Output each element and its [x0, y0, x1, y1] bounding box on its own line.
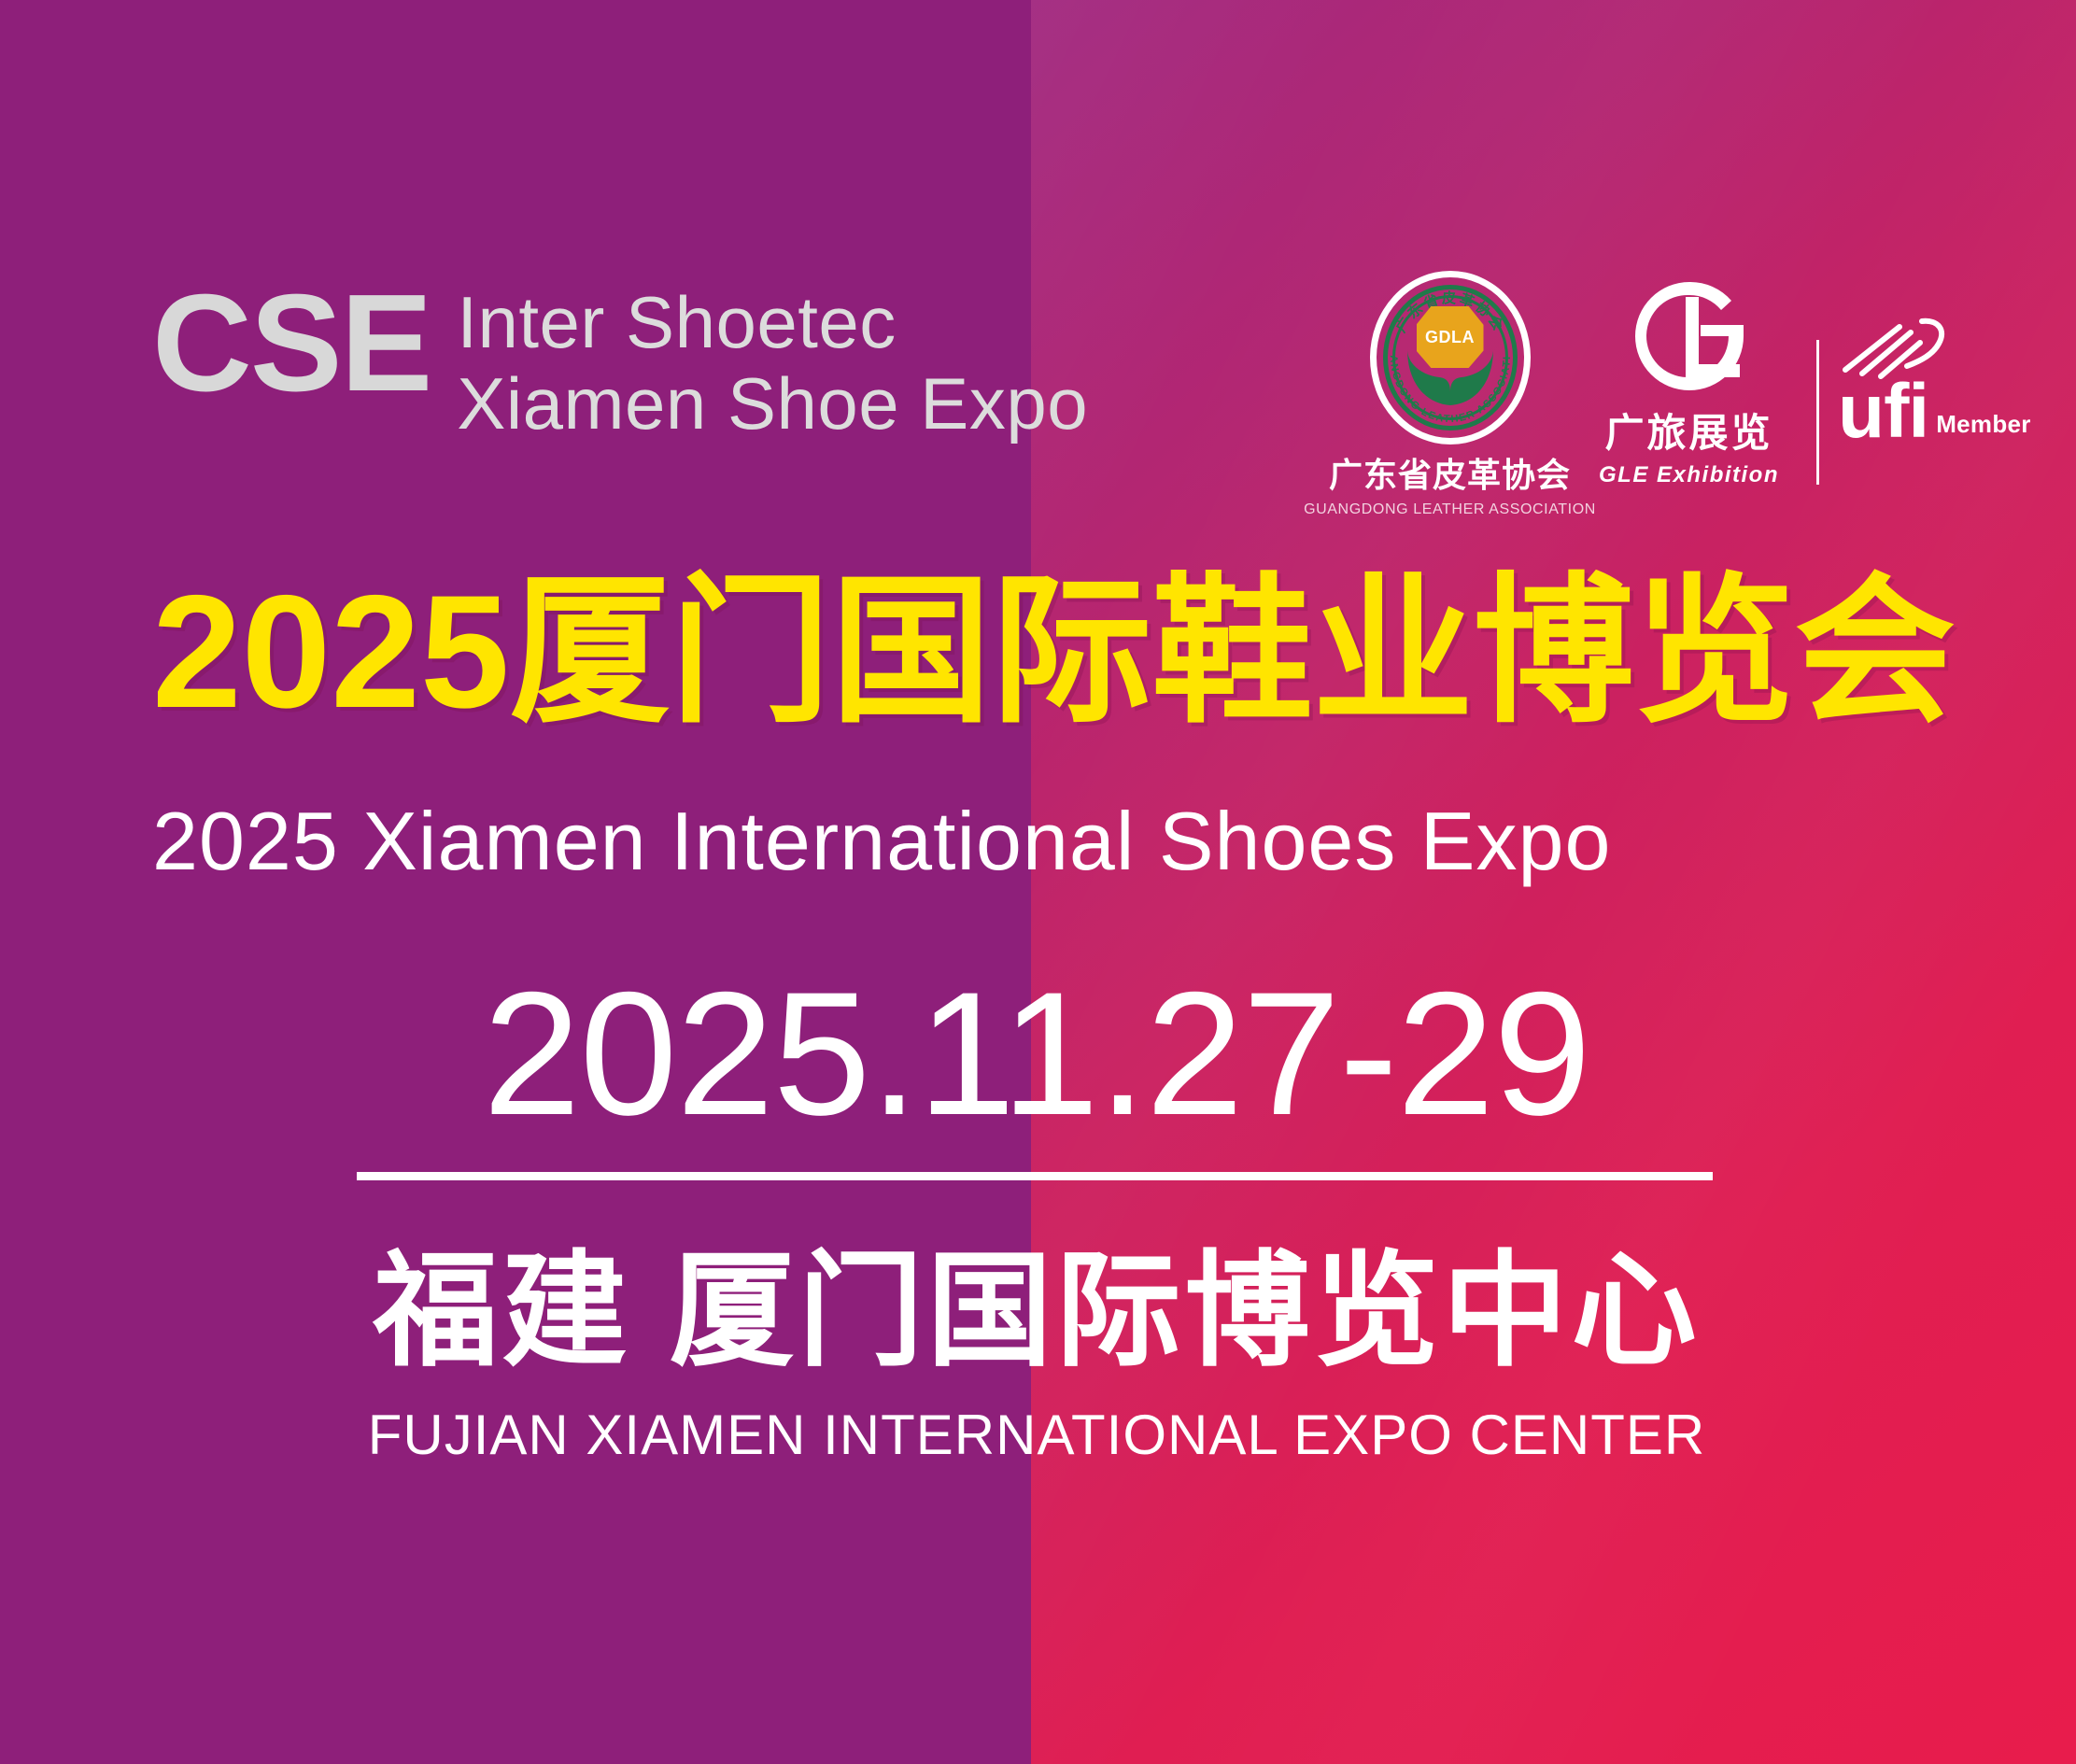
logo-divider: [1816, 340, 1819, 485]
cse-subtitle-line-2: Xiamen Shoe Expo: [457, 363, 1088, 445]
gdla-badge-hex-icon: GDLA: [1417, 306, 1484, 368]
cse-subtitle-group: Inter Shoetec Xiamen Shoe Expo: [457, 282, 1088, 445]
gdla-badge-text: GDLA: [1425, 328, 1475, 347]
event-dates: 2025.11.27-29: [355, 962, 1718, 1146]
ufi-member-label: Member: [1936, 410, 2031, 439]
gle-logo: 广旅展览 GLE Exhibition: [1575, 269, 1803, 488]
gle-gl-monogram-icon: [1624, 275, 1755, 398]
poster-header: CSE Inter Shoetec Xiamen Shoe Expo: [0, 267, 2076, 491]
gdla-name-cn: 广东省皮革协会: [1329, 448, 1571, 497]
cse-subtitle-line-1: Inter Shoetec: [457, 282, 1088, 363]
headline-chinese: 2025厦门国际鞋业博览会: [152, 572, 1983, 732]
cse-logo: CSE Inter Shoetec Xiamen Shoe Expo: [152, 267, 1088, 445]
gle-name-en: GLE Exhibition: [1599, 462, 1779, 488]
expo-poster: CSE Inter Shoetec Xiamen Shoe Expo: [0, 0, 2076, 1764]
venue-name-chinese: 福建 厦门国际博览中心: [355, 1247, 1718, 1378]
partner-logo-strip: 广东省皮革协会 GUANGDONG LEATHER ASSOCIATION GD…: [1349, 269, 2034, 493]
ufi-logo: ufi Member: [1838, 269, 2034, 446]
gdla-logo: 广东省皮革协会 GUANGDONG LEATHER ASSOCIATION GD…: [1349, 269, 1550, 518]
gdla-seal-icon: 广东省皮革协会 GUANGDONG LEATHER ASSOCIATION GD…: [1370, 271, 1531, 445]
ufi-wordmark: ufi: [1838, 377, 1928, 446]
gdla-name-en: GUANGDONG LEATHER ASSOCIATION: [1304, 501, 1596, 518]
gle-name-cn: 广旅展览: [1604, 402, 1772, 459]
cse-wordmark: CSE: [152, 280, 431, 407]
headline-english: 2025 Xiamen International Shoes Expo: [152, 798, 1983, 884]
ufi-wordmark-row: ufi Member: [1838, 377, 2031, 446]
horizontal-rule: [357, 1172, 1713, 1180]
venue-name-english: FUJIAN XIAMEN INTERNATIONAL EXPO CENTER: [355, 1405, 1718, 1464]
